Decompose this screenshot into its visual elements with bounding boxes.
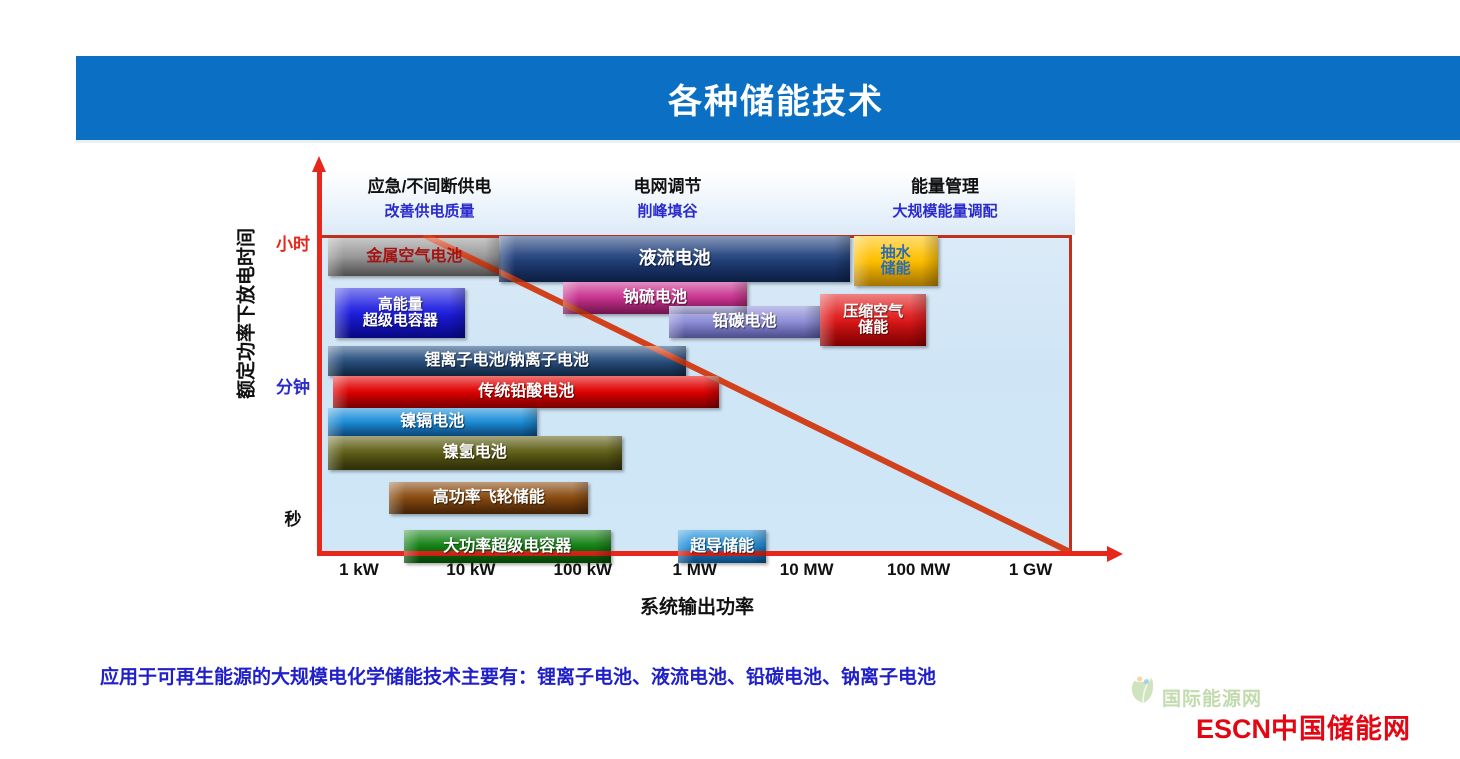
x-axis-title: 系统输出功率 — [322, 592, 1072, 619]
y-tick-minute: 分钟 — [276, 378, 310, 398]
title-banner: 各种储能技术 — [76, 56, 1460, 140]
y-axis-arrow-icon — [312, 156, 326, 172]
chart-bar: 高功率飞轮储能 — [389, 482, 588, 514]
bottom-caption: 应用于可再生能源的大规模电化学储能技术主要有：锂离子电池、液流电池、铅碳电池、钠… — [100, 662, 1220, 689]
x-tick-label: 1 kW — [339, 560, 379, 580]
x-tick-label: 10 MW — [780, 560, 834, 580]
chart-bar: 抽水 储能 — [854, 236, 938, 286]
x-tick-label: 1 MW — [673, 560, 717, 580]
escn-logo-cn: 中国储能网 — [1271, 714, 1411, 744]
storage-technology-chart: 应急/不间断供电 改善供电质量 电网调节 削峰填谷 能量管理 大规模能量调配 金… — [210, 160, 1170, 630]
chart-bar: 铅碳电池 — [669, 306, 820, 338]
page-title: 各种储能技术 — [76, 56, 1460, 140]
x-tick-label: 100 MW — [887, 560, 950, 580]
escn-logo: ESCN中国储能网 — [1196, 707, 1411, 746]
y-axis-title: 额定功率下放电时间 — [232, 204, 259, 424]
y-tick-hour: 小时 — [276, 235, 310, 255]
chart-bar-label: 高能量 超级电容器 — [357, 297, 444, 329]
chart-bar-label: 液流电池 — [633, 249, 717, 268]
escn-logo-en: ESCN — [1196, 714, 1271, 744]
chart-bar: 镍镉电池 — [328, 408, 537, 436]
chart-bar-label: 金属空气电池 — [360, 248, 468, 265]
chart-bar-label: 压缩空气 储能 — [837, 304, 909, 336]
chart-bar: 镍氢电池 — [328, 436, 622, 470]
x-axis-ticks: 1 kW10 kW100 kW1 MW10 MW100 MW1 GW — [322, 560, 1112, 586]
chart-bar: 锂离子电池/钠离子电池 — [328, 346, 686, 376]
chart-bar: 大功率超级电容器 — [404, 530, 611, 563]
x-tick-label: 1 GW — [1009, 560, 1052, 580]
x-tick-label: 100 kW — [554, 560, 613, 580]
chart-bar-label: 传统铅酸电池 — [472, 383, 580, 400]
chart-bar-label: 高功率飞轮储能 — [427, 489, 551, 506]
chart-bar-label: 铅碳电池 — [707, 313, 783, 330]
chart-bar-label: 镍氢电池 — [437, 444, 513, 461]
chart-bar: 金属空气电池 — [328, 238, 502, 276]
y-axis-line — [317, 170, 322, 555]
chart-bar-label: 钠硫电池 — [617, 289, 693, 306]
chart-bar: 液流电池 — [499, 236, 850, 282]
chart-bar: 超导储能 — [678, 530, 766, 563]
chart-bar: 传统铅酸电池 — [333, 376, 719, 408]
y-tick-second: 秒 — [276, 510, 310, 530]
chart-bar-label: 锂离子电池/钠离子电池 — [418, 352, 594, 369]
chart-bar: 高能量 超级电容器 — [335, 288, 465, 338]
banner-underline — [76, 140, 1460, 143]
leaf-icon — [1126, 674, 1160, 708]
chart-bar-label: 大功率超级电容器 — [437, 538, 577, 555]
x-tick-label: 10 kW — [446, 560, 495, 580]
chart-bar-label: 镍镉电池 — [394, 413, 470, 430]
chart-bar: 压缩空气 储能 — [820, 294, 926, 346]
chart-bar-label: 抽水 储能 — [875, 245, 917, 277]
chart-bar-label: 超导储能 — [684, 538, 760, 555]
